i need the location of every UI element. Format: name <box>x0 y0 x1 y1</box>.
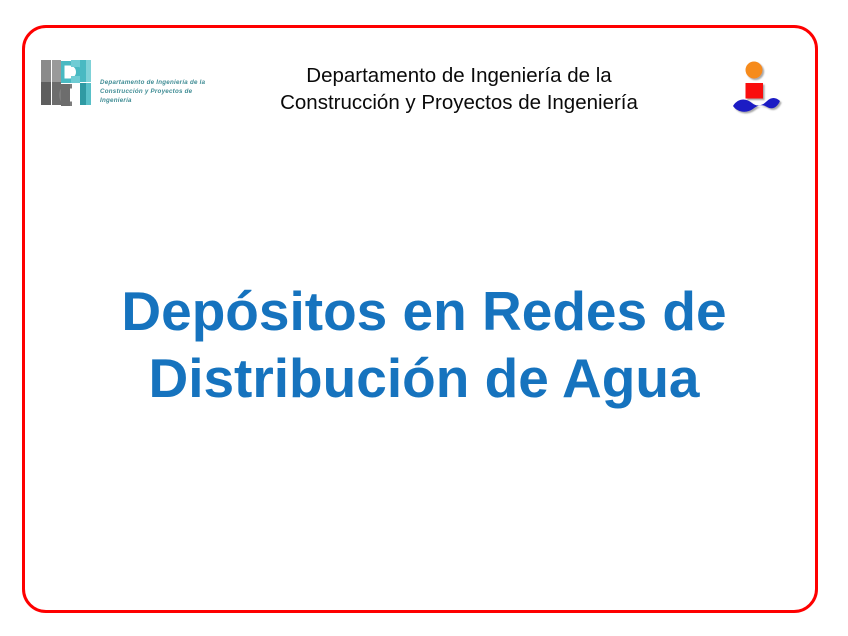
slide-main-title: Depósitos en Redes de Distribución de Ag… <box>62 278 786 412</box>
upv-logo-icon <box>728 58 790 116</box>
department-header-title: Departamento de Ingeniería de la Constru… <box>214 62 704 116</box>
dicpi-monogram-logo-icon <box>40 58 92 108</box>
presentation-slide: Departamento de Ingeniería de la Constru… <box>0 0 848 636</box>
department-logo-block: Departamento de Ingeniería de la Constru… <box>40 58 240 116</box>
